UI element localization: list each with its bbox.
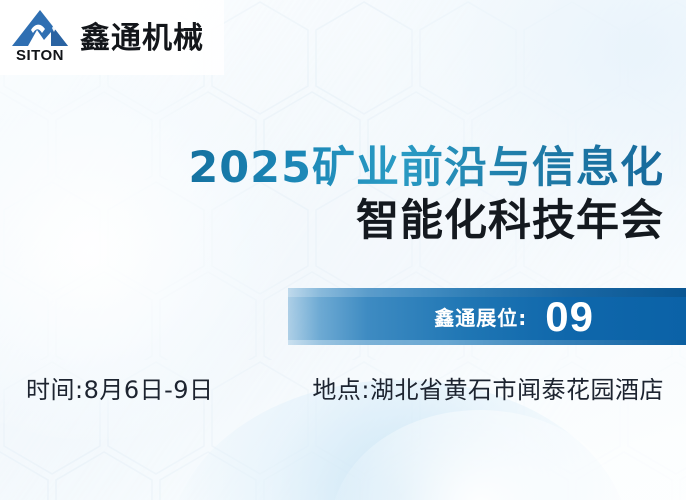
- event-location: 地点:湖北省黄石市闻泰花园酒店: [312, 370, 664, 405]
- siton-mountain-icon: SITON: [8, 9, 72, 67]
- booth-number: 09: [545, 296, 594, 338]
- booth-number-banner: 鑫通展位: 09: [288, 288, 686, 345]
- logo-latin-text: SITON: [16, 48, 64, 63]
- background-glow-bottom-inner: [330, 410, 630, 500]
- brand-logo: SITON 鑫通机械: [0, 0, 224, 75]
- hexagon-pattern-background: [0, 0, 686, 500]
- headline-line-2: 智能化科技年会: [0, 196, 664, 247]
- event-poster: SITON 鑫通机械 2025矿业前沿与信息化 智能化科技年会 鑫通展位: 09…: [0, 0, 686, 500]
- headline-line-1: 2025矿业前沿与信息化: [0, 143, 664, 194]
- booth-label: 鑫通展位:: [434, 302, 527, 331]
- event-time: 时间:8月6日-9日: [26, 370, 214, 405]
- poster-headline: 2025矿业前沿与信息化 智能化科技年会: [0, 143, 664, 246]
- logo-chinese-text: 鑫通机械: [80, 24, 204, 54]
- event-details: 时间:8月6日-9日 地点:湖北省黄石市闻泰花园酒店: [26, 370, 664, 405]
